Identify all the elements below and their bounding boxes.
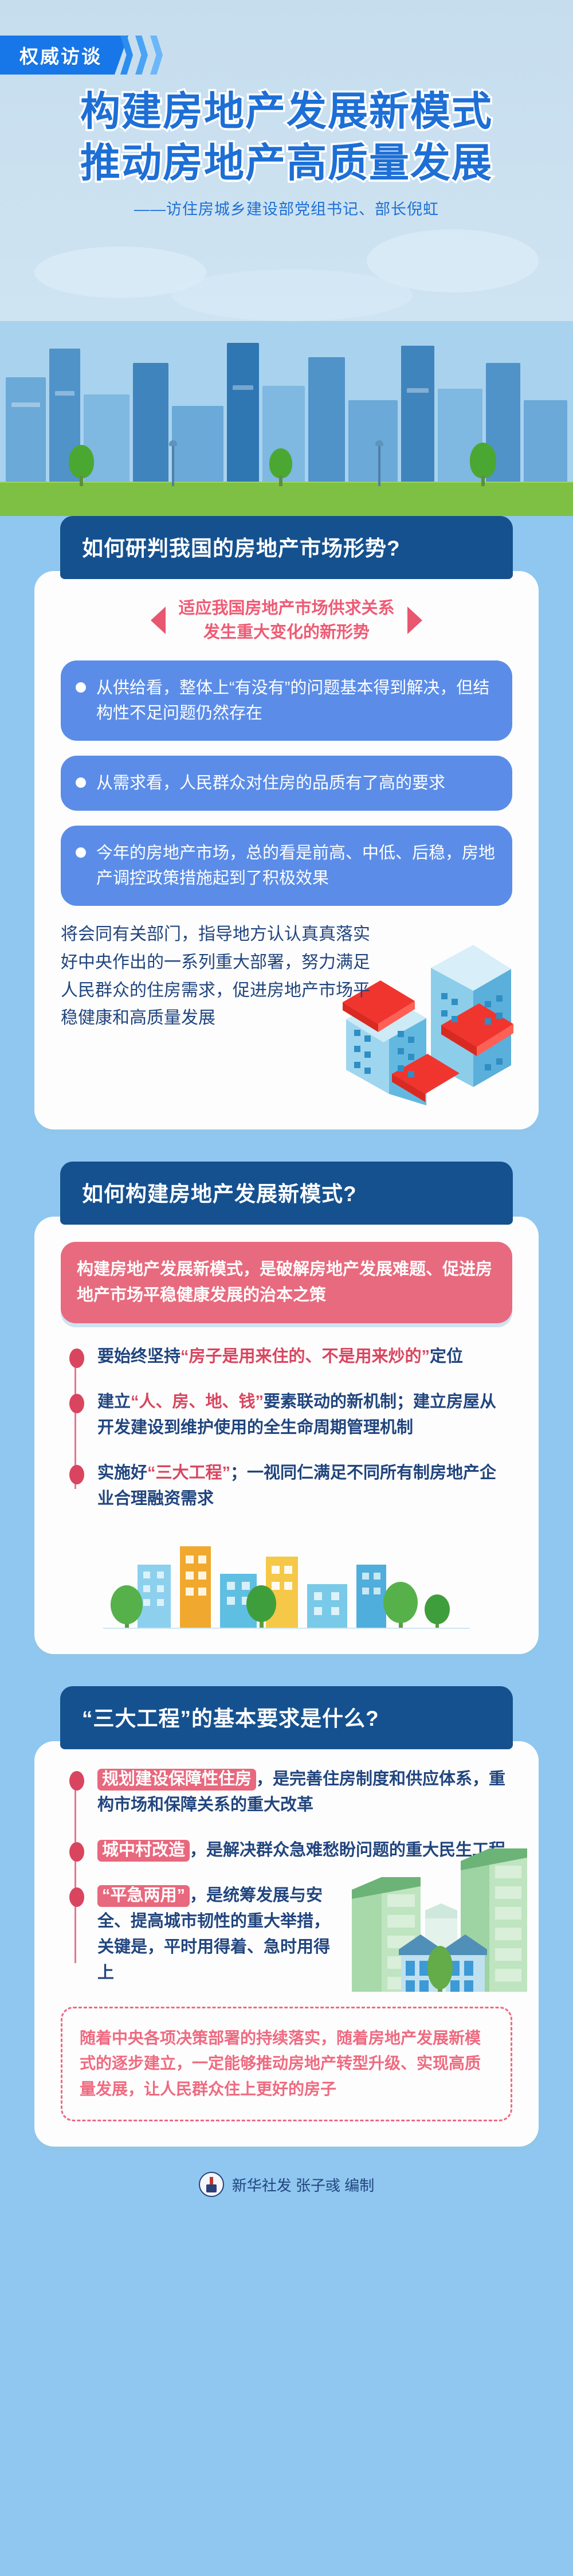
list-item: 规划建设保障性住房，是完善住房制度和供应体系，重构市场和保障关系的重大改革 [97,1766,512,1818]
bullet-pill-text: 从供给看，整体上“有没有”的问题基本得到解决，但结构性不足问题仍然存在 [96,675,495,726]
bullet-pill: 今年的房地产市场，总的看是前高、中低、后稳，房地产调控政策措施起到了积极效果 [61,826,512,906]
section-heading: “三大工程”的基本要求是什么? [60,1686,513,1749]
kicker-label: 权威访谈 [0,36,128,75]
bullet-text-emphasis: “人、房、地、钱” [131,1393,264,1411]
bullet-text-before: 实施好 [97,1464,147,1482]
bullet-text: ，是解决群众急难愁盼问题的重大民生工程 [190,1841,505,1859]
arrow-headline: 适应我国房地产市场供求关系 发生重大变化的新形势 [61,596,512,644]
xinhua-logo-icon [199,2172,224,2197]
section-three-projects: “三大工程”的基本要求是什么? 规划建设保障性住房，是完善住房制度和供应体系，重… [0,1686,573,2152]
section-card: 构建房地产发展新模式，是破解房地产发展难题、促进房地产市场平稳健康发展的治本之策… [34,1217,539,1654]
kicker-ribbon: 权威访谈 [0,36,163,75]
keyword-badge: 城中村改造 [97,1840,190,1862]
bullet-pill-text: 从需求看，人民群众对住房的品质有了高的要求 [96,771,445,796]
hero-banner: 权威访谈 构建房地产发展新模式 推动房地产高质量发展 ——访住房城乡建设部党组书… [0,0,573,516]
timeline-dot-icon [69,1394,84,1413]
keyword-badge: “平急两用” [97,1885,190,1907]
double-chevron-right-icon [118,36,163,75]
section-paragraph: 将会同有关部门，指导地方认认真真落实好中央作出的一系列重大部署，努力满足人民群众… [61,921,382,1032]
arrow-headline-line-2: 发生重大变化的新形势 [178,620,394,644]
page-title-line-2: 推动房地产高质量发展 [0,138,573,189]
title-block: 构建房地产发展新模式 推动房地产高质量发展 ——访住房城乡建设部党组书记、部长倪… [0,86,573,219]
section-card: 规划建设保障性住房，是完善住房制度和供应体系，重构市场和保障关系的重大改革 城中… [34,1741,539,2147]
list-item: 建立“人、房、地、钱”要素联动的新机制；建立房屋从开发建设到维护使用的全生命周期… [97,1389,512,1441]
page-title-line-1: 构建房地产发展新模式 [0,86,573,138]
bullet-text-before: 建立 [97,1393,131,1411]
bullet-text-emphasis: “三大工程” [147,1464,230,1482]
triangle-right-icon [407,607,422,634]
list-item: 要始终坚持“房子是用来住的、不是用来炒的”定位 [97,1344,512,1370]
city-skyline-trees-illustration [103,1531,470,1629]
bullet-pill: 从需求看，人民群众对住房的品质有了高的要求 [61,756,512,811]
list-item: “平急两用”，是统筹发展与安全、提高城市韧性的重大举措，关键是，平时用得着、急时… [97,1883,512,1986]
timeline-dot-icon [69,1771,84,1791]
keyword-badge: 规划建设保障性住房 [97,1769,256,1791]
highlight-box: 构建房地产发展新模式，是破解房地产发展难题、促进房地产市场平稳健康发展的治本之策 [61,1242,512,1323]
footer-credit: 新华社发 张子彧 编制 [0,2152,573,2222]
timeline-connector [74,1779,76,1963]
bullet-dot-icon [76,682,86,693]
bullet-dot-icon [76,847,86,858]
bullet-text-after: 定位 [430,1347,463,1366]
closing-note: 随着中央各项决策部署的持续落实，随着房地产发展新模式的逐步建立，一定能够推动房地… [61,2007,512,2121]
list-item: 实施好“三大工程”；一视同仁满足不同所有制房地产企业合理融资需求 [97,1460,512,1512]
section-card: 适应我国房地产市场供求关系 发生重大变化的新形势 从供给看，整体上“有没有”的问… [34,571,539,1129]
timeline-list: 要始终坚持“房子是用来住的、不是用来炒的”定位 建立“人、房、地、钱”要素联动的… [61,1344,512,1512]
timeline-dot-icon [69,1887,84,1907]
bullet-text-before: 要始终坚持 [97,1347,180,1366]
list-item: 城中村改造，是解决群众急难愁盼问题的重大民生工程 [97,1838,512,1863]
city-skyline-illustration [0,310,573,516]
page-subtitle: ——访住房城乡建设部党组书记、部长倪虹 [0,197,573,219]
arrow-headline-line-1: 适应我国房地产市场供求关系 [178,596,394,620]
bullet-text-emphasis: “房子是用来住的、不是用来炒的” [180,1347,430,1366]
footer-credit-text: 新华社发 张子彧 编制 [232,2174,374,2195]
section-new-model: 如何构建房地产发展新模式? 构建房地产发展新模式，是破解房地产发展难题、促进房地… [0,1162,573,1660]
bullet-pill: 从供给看，整体上“有没有”的问题基本得到解决，但结构性不足问题仍然存在 [61,660,512,741]
bullet-dot-icon [76,777,86,788]
timeline-dot-icon [69,1842,84,1862]
section-market-situation: 如何研判我国的房地产市场形势? 适应我国房地产市场供求关系 发生重大变化的新形势… [0,516,573,1135]
timeline-list: 规划建设保障性住房，是完善住房制度和供应体系，重构市场和保障关系的重大改革 城中… [61,1766,512,1986]
section-heading: 如何构建房地产发展新模式? [60,1162,513,1225]
timeline-dot-icon [69,1348,84,1368]
bullet-pill-text: 今年的房地产市场，总的看是前高、中低、后稳，房地产调控政策措施起到了积极效果 [96,841,495,891]
section-heading: 如何研判我国的房地产市场形势? [60,516,513,579]
triangle-left-icon [151,607,166,634]
timeline-dot-icon [69,1465,84,1484]
